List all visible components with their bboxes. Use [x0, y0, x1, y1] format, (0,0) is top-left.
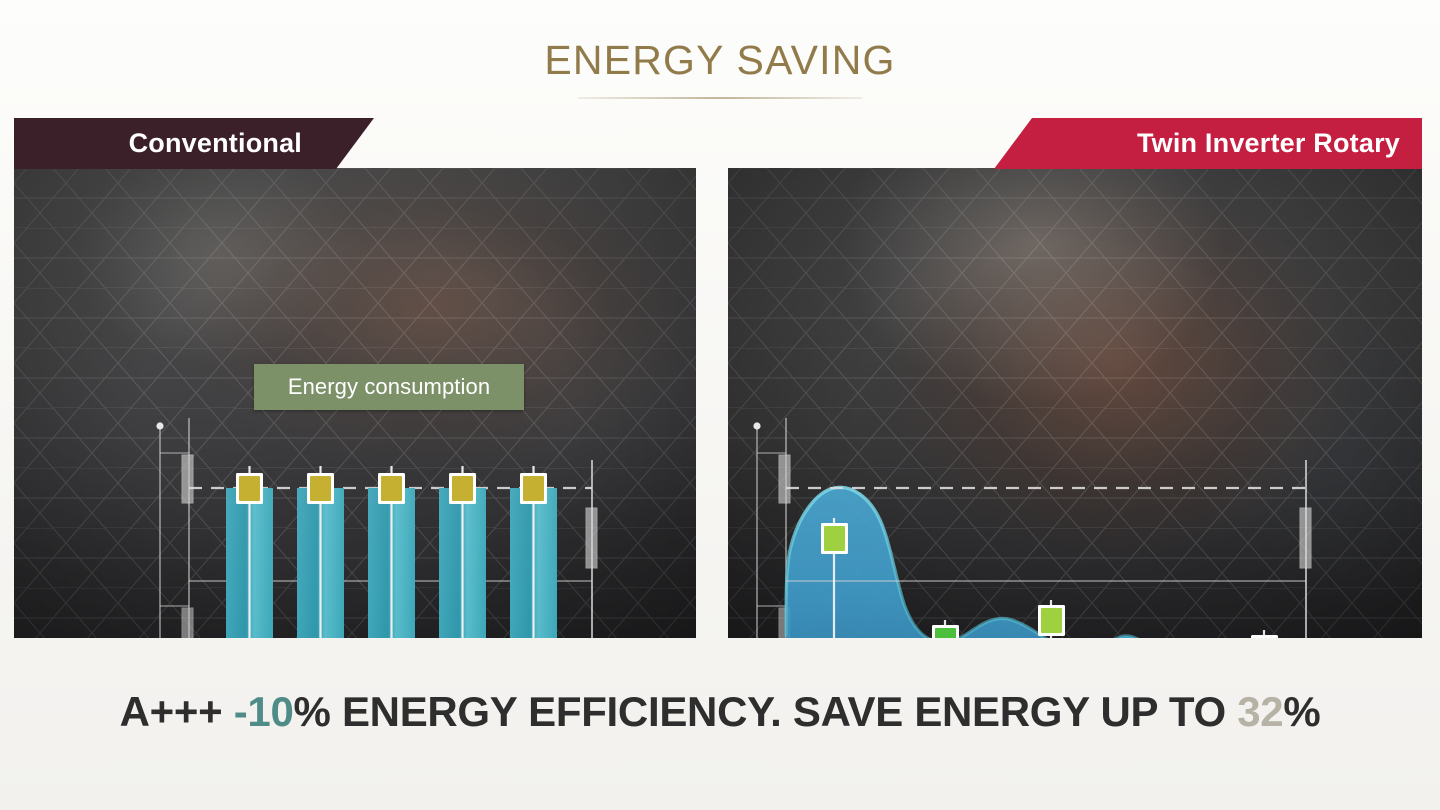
- right-scale-chip-upper: [586, 508, 597, 568]
- marker-5: [520, 473, 547, 504]
- y-scale-chip-upper: [182, 455, 193, 503]
- marker-2: [307, 473, 334, 504]
- footer-reduction-value: -10: [234, 688, 294, 735]
- footer-grade: A+++: [120, 688, 234, 735]
- panel-conventional: Energy consumption: [14, 168, 696, 638]
- right-scale-chip-upper-r: [1300, 508, 1311, 568]
- chip-label-left: Energy consumption: [288, 374, 490, 400]
- tab-twin-inverter-rotary-label: Twin Inverter Rotary: [1137, 128, 1400, 159]
- marker-5-r: [1251, 635, 1278, 638]
- axis-node-top-left: [156, 422, 163, 429]
- footer-statement: A+++ -10% ENERGY EFFICIENCY. SAVE ENERGY…: [0, 688, 1440, 736]
- marker-1: [236, 473, 263, 504]
- chip-energy-consumption-left: Energy consumption: [254, 364, 524, 410]
- marker-4: [449, 473, 476, 504]
- twin-inverter-rotary-chart: [728, 168, 1422, 638]
- slide-root: ENERGY SAVING: [0, 0, 1440, 810]
- page-title: ENERGY SAVING: [544, 40, 895, 91]
- footer-reduction-unit: % ENERGY EFFICIENCY. SAVE ENERGY UP TO: [294, 688, 1238, 735]
- tab-conventional-label: Conventional: [129, 128, 302, 159]
- title-underline: [578, 97, 862, 99]
- marker-3: [378, 473, 405, 504]
- tab-twin-inverter-rotary[interactable]: Twin Inverter Rotary: [994, 118, 1422, 169]
- tab-conventional[interactable]: Conventional: [14, 118, 374, 169]
- y-scale-chip-upper-r: [779, 455, 790, 503]
- footer-saving-value: 32: [1237, 688, 1283, 735]
- y-scale-chip-lower: [182, 608, 193, 638]
- footer-saving-unit: %: [1283, 688, 1320, 735]
- panel-twin-inverter-rotary: Energy consumption: [728, 168, 1422, 638]
- axis-node-top-right-panel: [753, 422, 760, 429]
- marker-2-r: [932, 625, 959, 638]
- marker-3-r: [1038, 605, 1065, 636]
- marker-1-r: [821, 523, 848, 554]
- title-block: ENERGY SAVING: [0, 40, 1440, 99]
